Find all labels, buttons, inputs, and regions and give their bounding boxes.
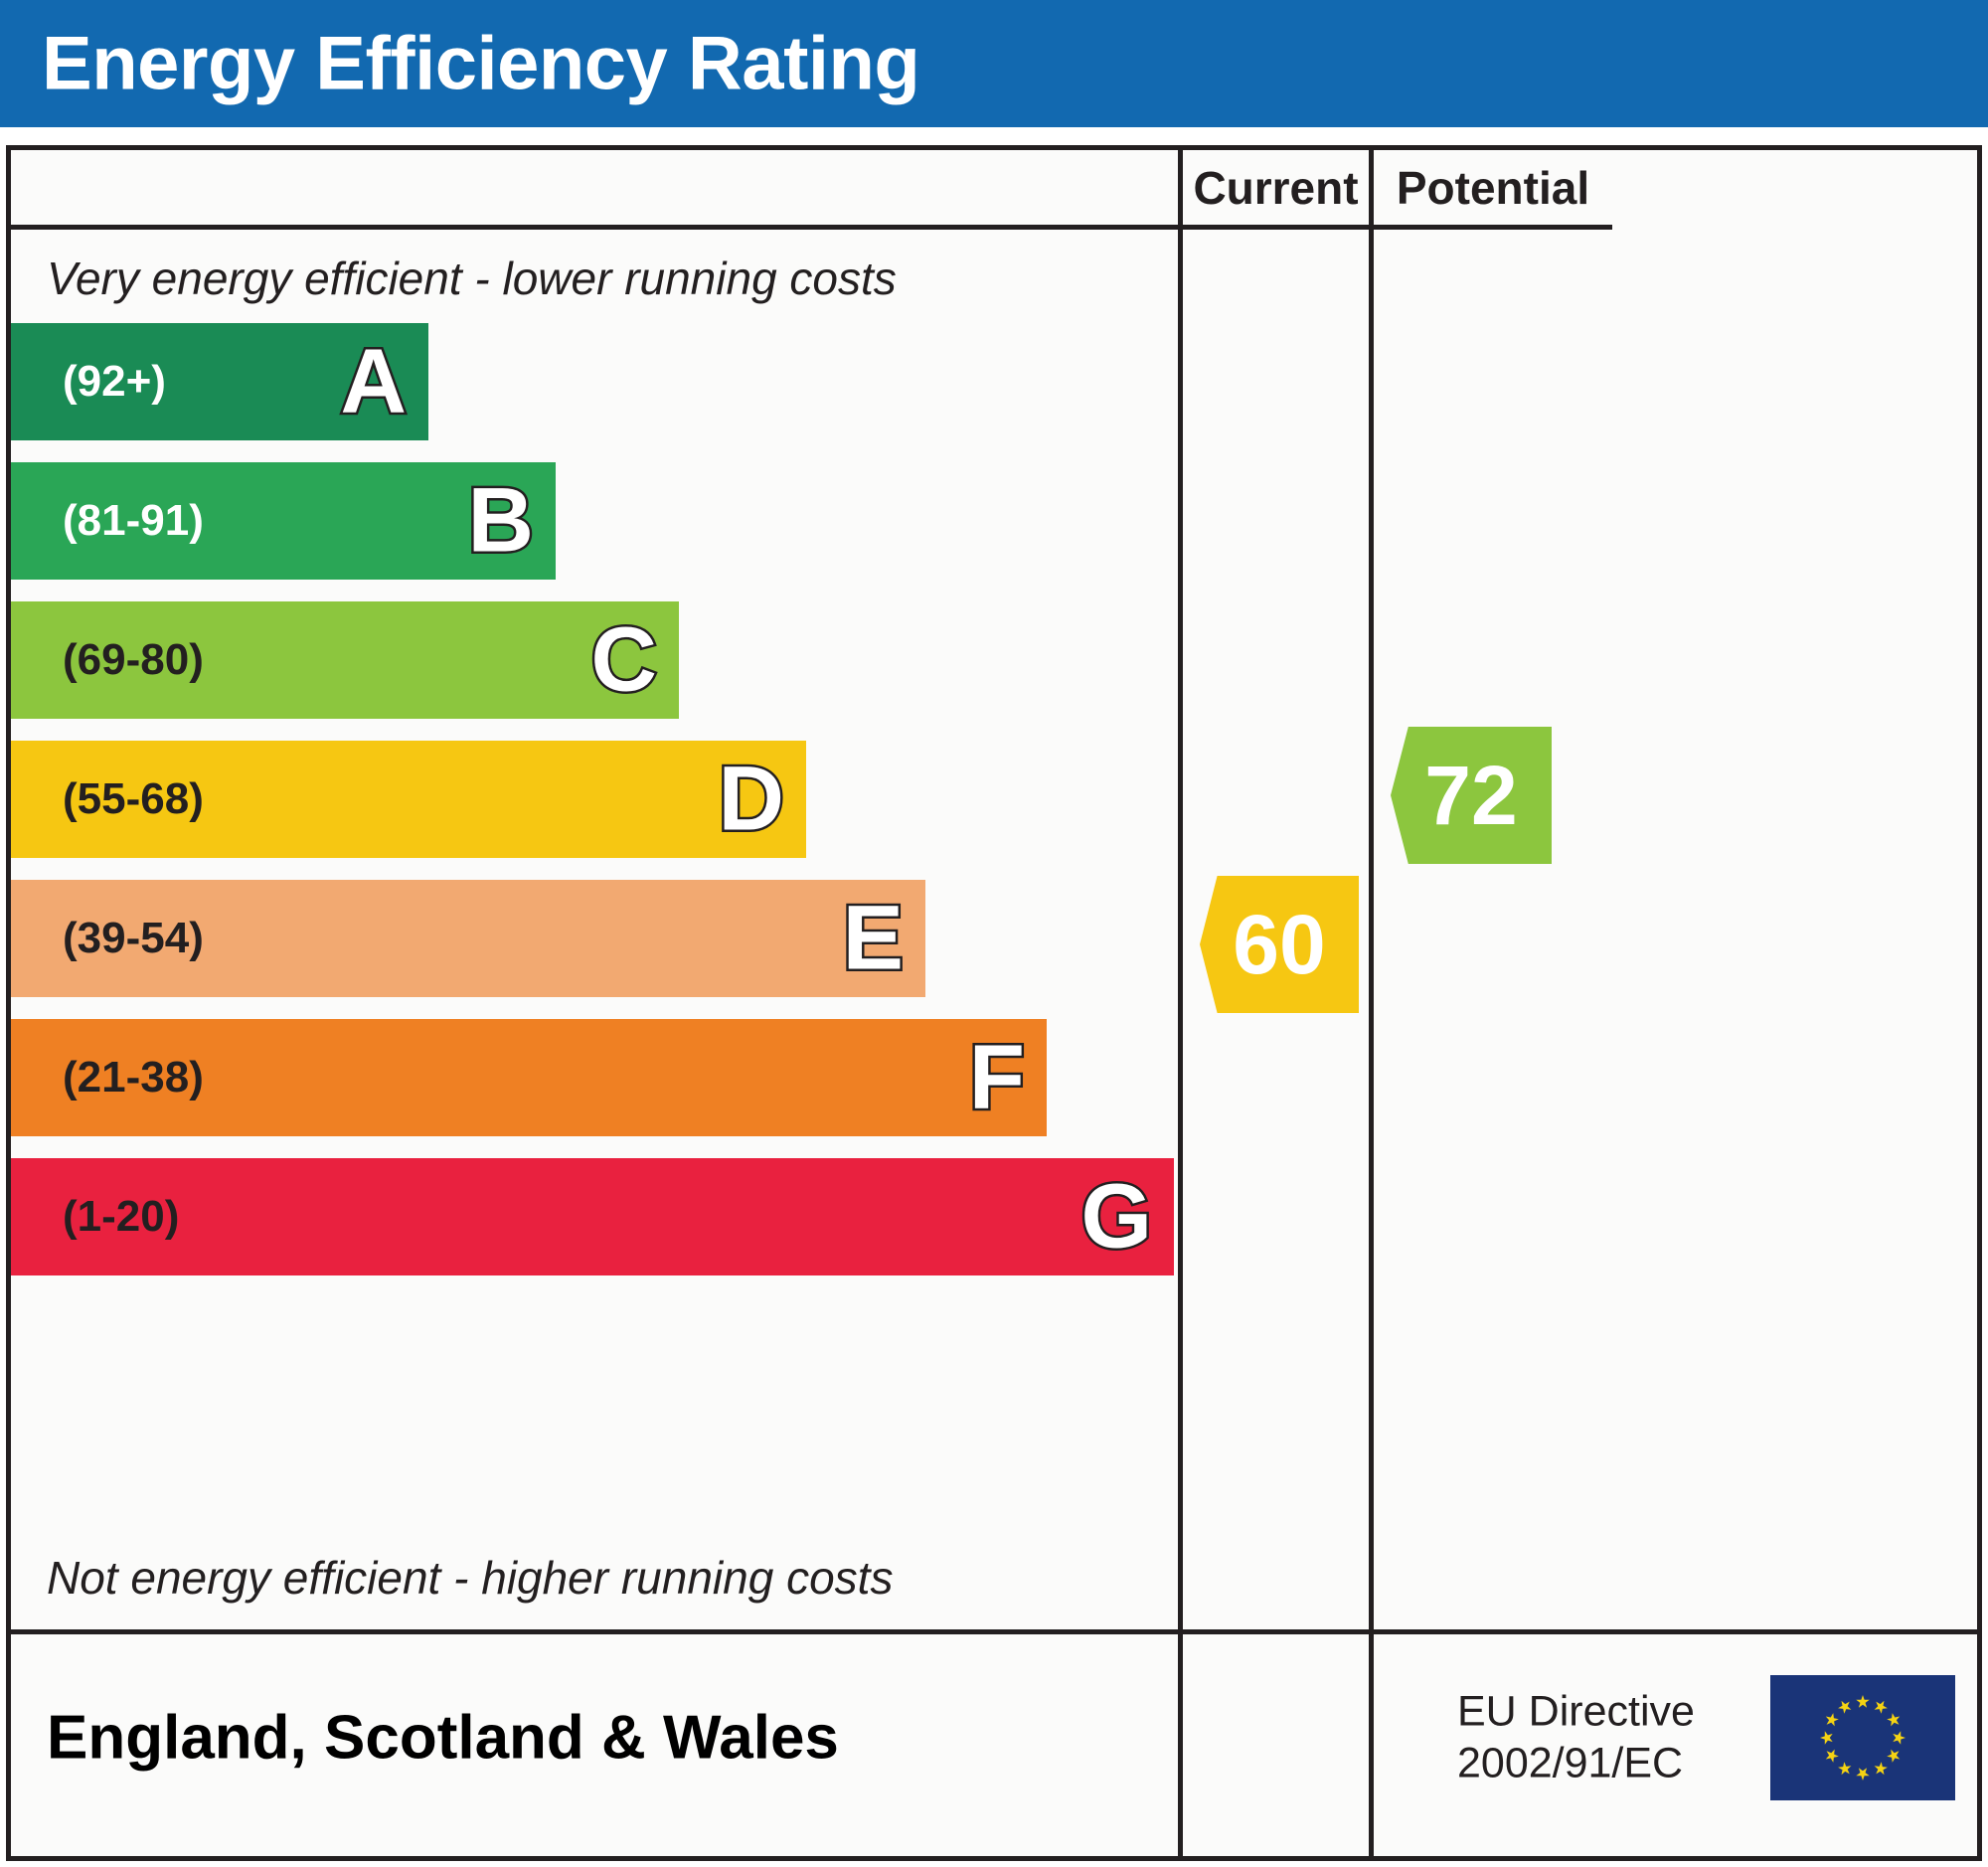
footer-region-label: England, Scotland & Wales (47, 1703, 839, 1774)
bands-chart: Very energy efficient - lower running co… (11, 230, 1178, 1614)
band-row-c: (69-80) C (11, 601, 679, 719)
band-letter-g: G (1080, 1176, 1152, 1259)
current-rating-badge: 60 (1200, 876, 1359, 1013)
eu-flag-icon (1770, 1675, 1955, 1800)
band-row-d: (55-68) D (11, 741, 806, 858)
band-letter-e: E (843, 898, 904, 980)
band-letter-a: A (341, 341, 407, 424)
band-range-e: (39-54) (63, 914, 204, 963)
band-range-g: (1-20) (63, 1192, 179, 1242)
band-row-e: (39-54) E (11, 880, 925, 997)
rating-table: Current Potential Very energy efficient … (6, 145, 1982, 1861)
directive-line-2: 2002/91/EC (1457, 1738, 1695, 1789)
band-letter-b: B (468, 480, 534, 563)
band-row-a: (92+) A (11, 323, 428, 440)
page-title: Energy Efficiency Rating (42, 21, 919, 107)
band-range-f: (21-38) (63, 1053, 204, 1103)
band-row-f: (21-38) F (11, 1019, 1047, 1136)
band-row-g: (1-20) G (11, 1158, 1174, 1275)
band-letter-d: D (719, 759, 784, 841)
band-row-b: (81-91) B (11, 462, 556, 580)
column-header-potential: Potential (1374, 150, 1612, 225)
title-bar: Energy Efficiency Rating (0, 0, 1988, 127)
band-letter-c: C (591, 619, 657, 702)
caption-efficient: Very energy efficient - lower running co… (47, 252, 897, 305)
energy-efficiency-certificate: Energy Efficiency Rating Current Potenti… (0, 0, 1988, 1867)
band-range-d: (55-68) (63, 774, 204, 824)
caption-inefficient: Not energy efficient - higher running co… (47, 1551, 893, 1605)
column-divider-potential (1369, 150, 1374, 1856)
footer: England, Scotland & Wales EU Directive 2… (11, 1619, 1977, 1856)
band-range-b: (81-91) (63, 496, 204, 546)
potential-rating-value: 72 (1424, 748, 1517, 844)
potential-rating-badge: 72 (1391, 727, 1552, 864)
band-letter-f: F (969, 1037, 1025, 1119)
band-range-c: (69-80) (63, 635, 204, 685)
current-rating-value: 60 (1233, 897, 1325, 993)
current-header-rule (1183, 225, 1369, 230)
band-range-a: (92+) (63, 357, 166, 407)
column-header-current: Current (1183, 150, 1369, 225)
directive-line-1: EU Directive (1457, 1686, 1695, 1738)
footer-directive-label: EU Directive 2002/91/EC (1457, 1686, 1695, 1790)
column-divider-current (1178, 150, 1183, 1856)
potential-header-rule (1374, 225, 1612, 230)
band-list: (92+) A (81-91) B (69-80) C (55-68) D (3… (11, 323, 1178, 1275)
